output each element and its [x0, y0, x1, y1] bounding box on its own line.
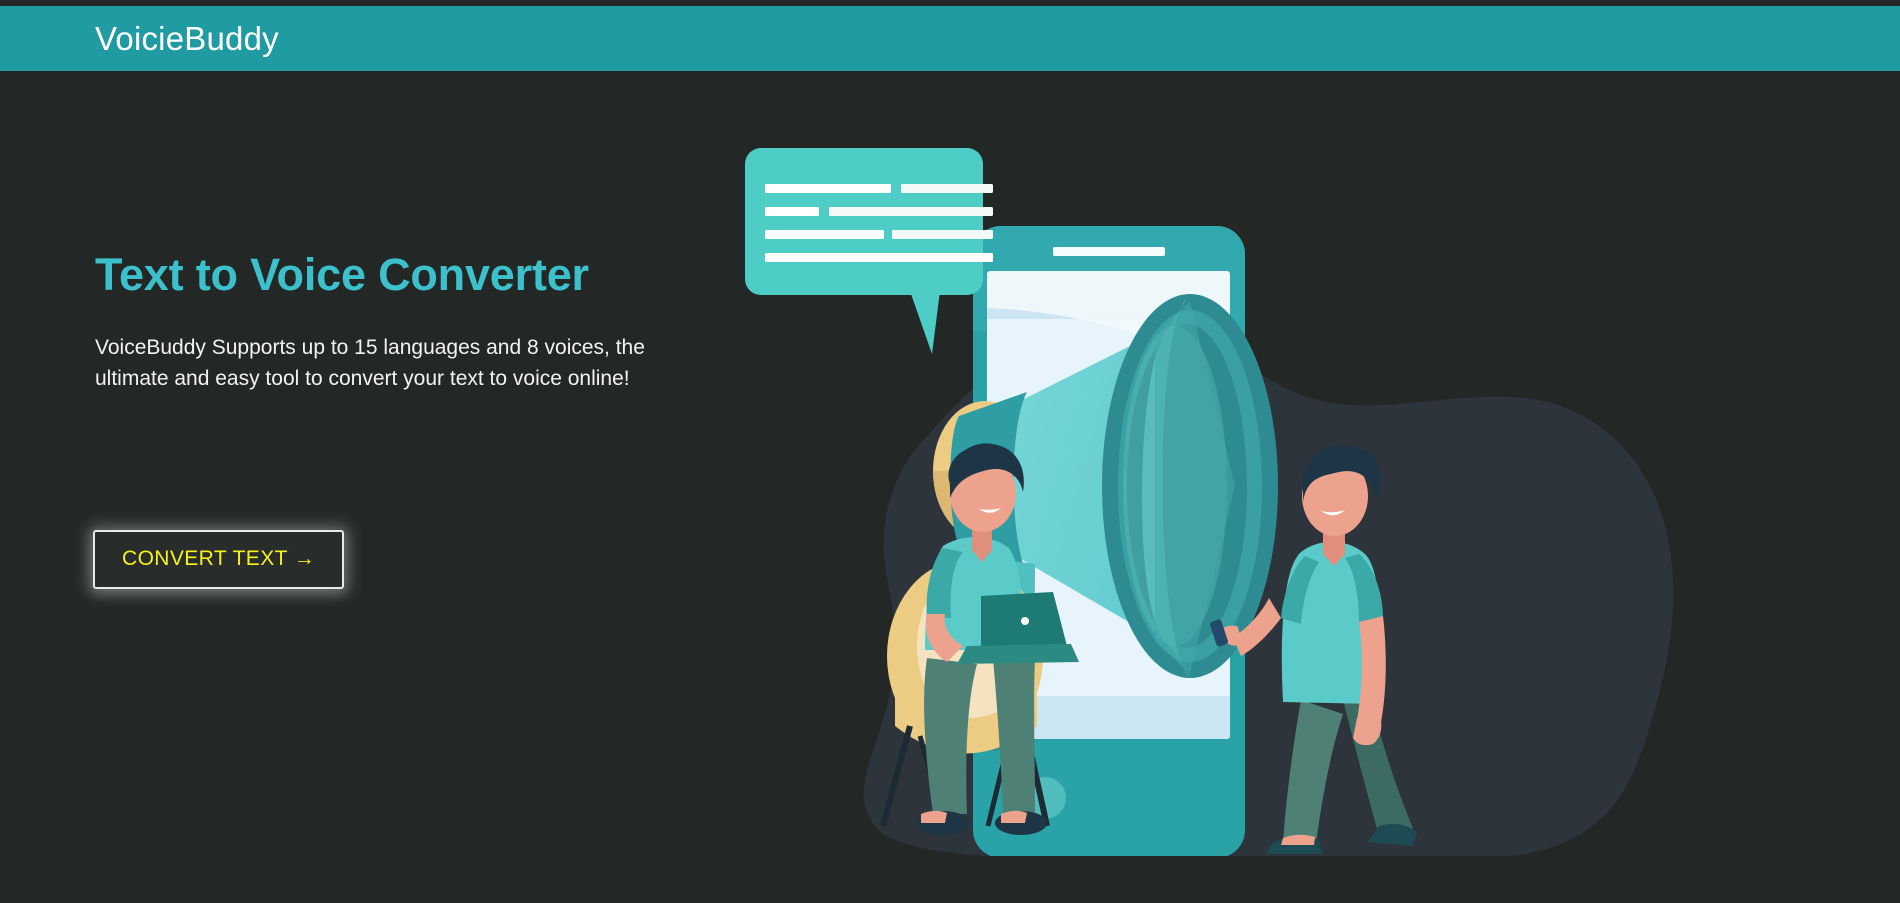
app-header: VoicieBuddy	[0, 6, 1900, 71]
speech-bubble-icon	[745, 148, 993, 354]
page-title: Text to Voice Converter	[95, 250, 735, 300]
illustration-svg	[735, 126, 1695, 856]
bubble-text-line	[765, 184, 891, 193]
bubble-text-line	[892, 230, 993, 239]
bubble-text-line	[901, 184, 993, 193]
hero-illustration	[735, 126, 1695, 856]
app-brand-title: VoicieBuddy	[95, 22, 279, 55]
hero-copy-block: Text to Voice Converter VoiceBuddy Suppo…	[95, 250, 735, 395]
bubble-text-line	[829, 207, 993, 216]
convert-text-button[interactable]: CONVERT TEXT →	[93, 530, 344, 589]
hero-section: Text to Voice Converter VoiceBuddy Suppo…	[0, 71, 1900, 903]
phone-speaker-bar	[1053, 247, 1165, 256]
bubble-text-line	[765, 253, 993, 262]
bubble-text-line	[765, 230, 884, 239]
cta-container: CONVERT TEXT →	[93, 530, 344, 589]
hero-subtitle: VoiceBuddy Supports up to 15 languages a…	[95, 300, 695, 396]
bubble-text-line	[765, 207, 819, 216]
